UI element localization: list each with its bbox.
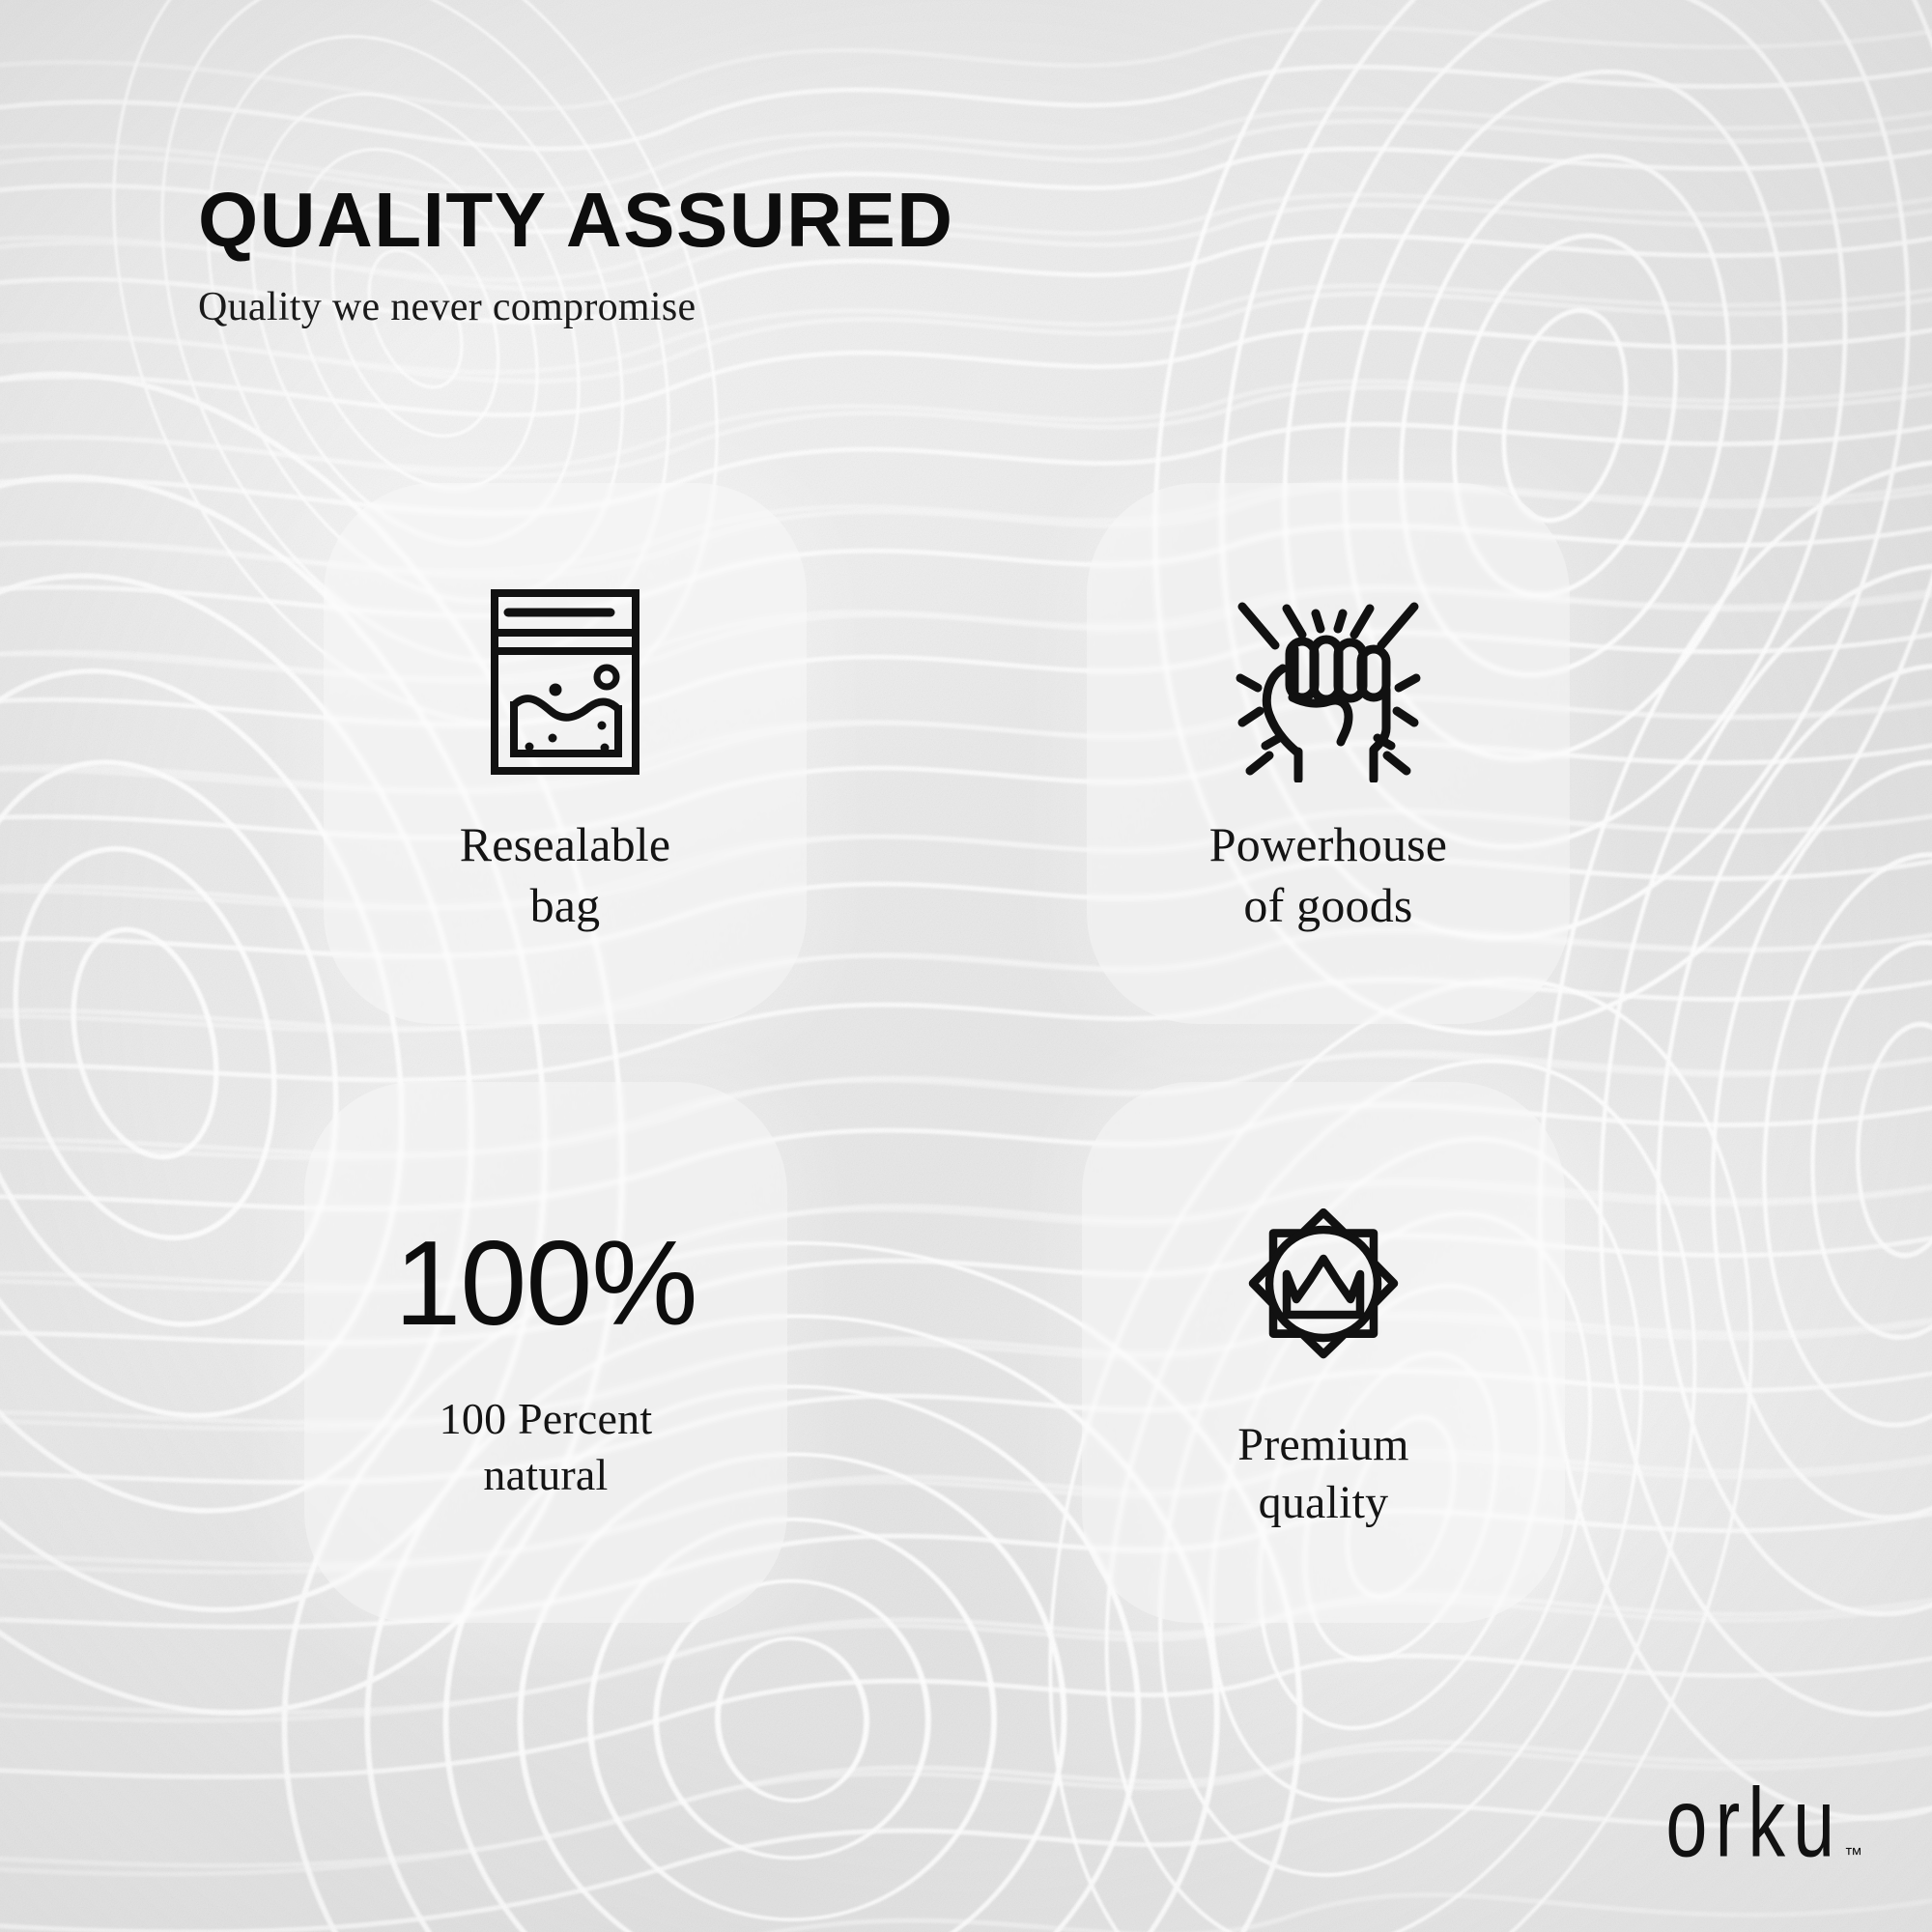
feature-label-line2: of goods xyxy=(1209,875,1447,936)
feature-label-line2: bag xyxy=(460,875,671,936)
logo-wordmark: orku xyxy=(1665,1775,1842,1872)
feature-card-premium-quality[interactable]: Premium quality xyxy=(1082,1082,1565,1623)
page-subtitle: Quality we never compromise xyxy=(198,284,1357,330)
page-title: QUALITY ASSURED xyxy=(198,182,1357,259)
feature-card-powerhouse[interactable]: Powerhouse of goods xyxy=(1087,483,1570,1024)
feature-label-line1: 100 Percent xyxy=(440,1394,653,1443)
feature-card-label: 100 Percent natural xyxy=(440,1391,653,1503)
feature-card-label: Premium quality xyxy=(1237,1416,1408,1533)
percent-100-text: 100% xyxy=(394,1202,696,1366)
feature-card-resealable-bag[interactable]: Resealable bag xyxy=(324,483,807,1024)
feature-label-line2: natural xyxy=(440,1447,653,1503)
feature-label-line1: Premium xyxy=(1237,1419,1408,1470)
crown-badge-icon xyxy=(1229,1173,1418,1395)
header-block: QUALITY ASSURED Quality we never comprom… xyxy=(198,182,1357,330)
feature-card-grid: Resealable bag xyxy=(0,464,1932,1662)
resealable-bag-icon xyxy=(489,571,641,793)
feature-label-line1: Powerhouse xyxy=(1209,817,1447,871)
raised-fist-power-icon xyxy=(1225,571,1432,793)
feature-label-line2: quality xyxy=(1237,1474,1408,1532)
feature-card-label: Powerhouse of goods xyxy=(1209,814,1447,936)
feature-card-label: Resealable bag xyxy=(460,814,671,936)
trademark-symbol: ™ xyxy=(1844,1845,1862,1866)
feature-card-100-percent-natural[interactable]: 100% 100 Percent natural xyxy=(304,1082,787,1623)
brand-logo: orku ™ xyxy=(1646,1789,1862,1872)
percent-value: 100% xyxy=(394,1224,696,1344)
feature-label-line1: Resealable xyxy=(460,817,671,871)
